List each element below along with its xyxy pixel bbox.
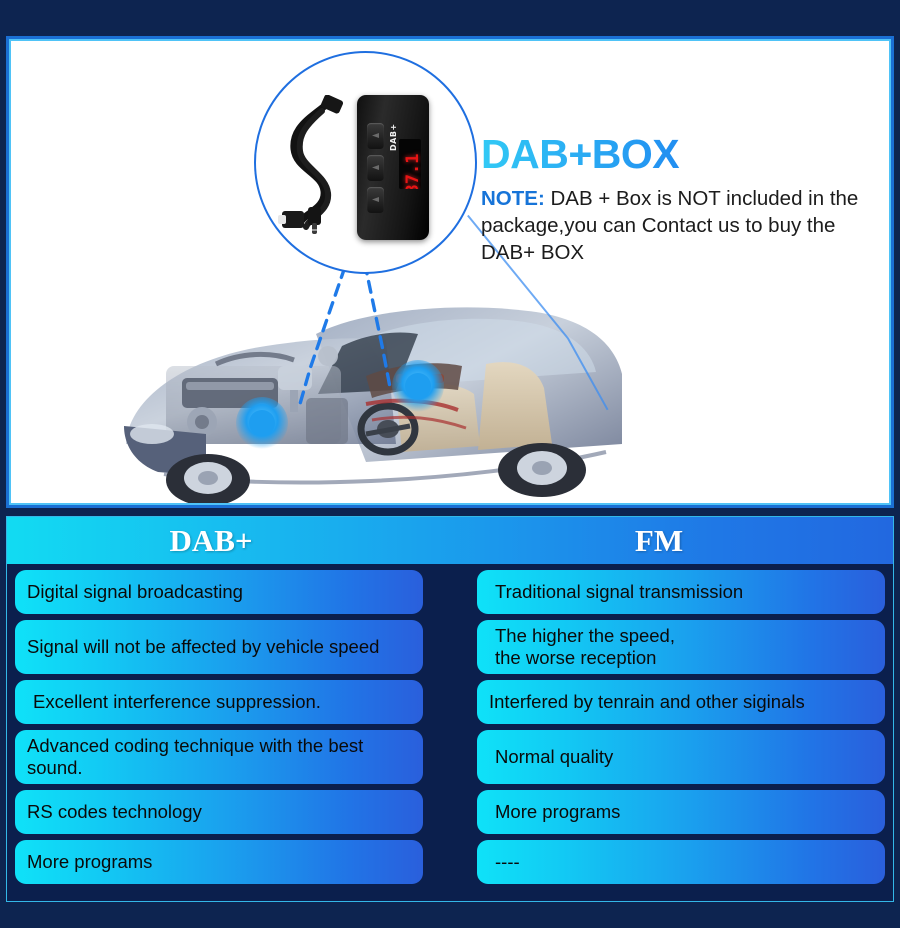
dab-box-device: DAB+ 87.1	[357, 95, 429, 240]
hero-text-block: DAB+BOX NOTE: DAB + Box is NOT included …	[481, 133, 881, 266]
list-item: Advanced coding technique with the best …	[15, 730, 423, 784]
list-item: More programs	[15, 840, 423, 884]
feature-text: Interfered by tenrain and other siginals	[489, 691, 805, 713]
feature-text: Digital signal broadcasting	[27, 581, 243, 603]
device-button-2	[367, 155, 384, 181]
feature-text: RS codes technology	[27, 801, 202, 823]
column-header-dab: DAB+	[7, 517, 455, 564]
feature-text: More programs	[27, 851, 152, 873]
hero-panel: DAB+ 87.1 DAB+BOX NOTE: DAB + Box is NOT…	[6, 36, 894, 508]
column-dab-features: Digital signal broadcasting Signal will …	[15, 570, 423, 884]
column-header-fm: FM	[455, 517, 893, 564]
feature-text: Traditional signal transmission	[495, 581, 743, 603]
list-item: More programs	[477, 790, 885, 834]
comparison-table-header: DAB+ FM	[7, 517, 893, 564]
column-fm-features: Traditional signal transmission The high…	[477, 570, 885, 884]
hero-title: DAB+BOX	[481, 133, 881, 176]
device-button-1	[367, 123, 384, 149]
list-item: Signal will not be affected by vehicle s…	[15, 620, 423, 674]
device-frequency-value: 87.1	[403, 150, 421, 189]
list-item: Digital signal broadcasting	[15, 570, 423, 614]
device-button-3	[367, 187, 384, 213]
feature-text: Excellent interference suppression.	[33, 691, 321, 713]
feature-text: Advanced coding technique with the best …	[27, 735, 411, 779]
list-item: Interfered by tenrain and other siginals	[477, 680, 885, 724]
list-item: RS codes technology	[15, 790, 423, 834]
device-dab-logo: DAB+	[389, 123, 398, 151]
feature-text: The higher the speed, the worse receptio…	[495, 625, 675, 669]
list-item: ----	[477, 840, 885, 884]
list-item: Traditional signal transmission	[477, 570, 885, 614]
list-item: The higher the speed, the worse receptio…	[477, 620, 885, 674]
hero-note: NOTE: DAB + Box is NOT included in the p…	[481, 185, 881, 266]
hero-note-label: NOTE:	[481, 187, 545, 210]
product-photo-circle: DAB+ 87.1	[254, 51, 477, 274]
feature-text: Normal quality	[495, 746, 613, 768]
list-item: Normal quality	[477, 730, 885, 784]
usb-cable-illustration	[278, 95, 356, 235]
comparison-table-body: Digital signal broadcasting Signal will …	[7, 564, 893, 891]
comparison-table: DAB+ FM Digital signal broadcasting Sign…	[6, 516, 894, 902]
hero-panel-inner: DAB+ 87.1 DAB+BOX NOTE: DAB + Box is NOT…	[9, 39, 891, 505]
feature-text: Signal will not be affected by vehicle s…	[27, 636, 379, 658]
device-led-display: 87.1	[399, 139, 421, 189]
list-item: Excellent interference suppression.	[15, 680, 423, 724]
feature-text: More programs	[495, 801, 620, 823]
feature-text: ----	[495, 851, 520, 873]
